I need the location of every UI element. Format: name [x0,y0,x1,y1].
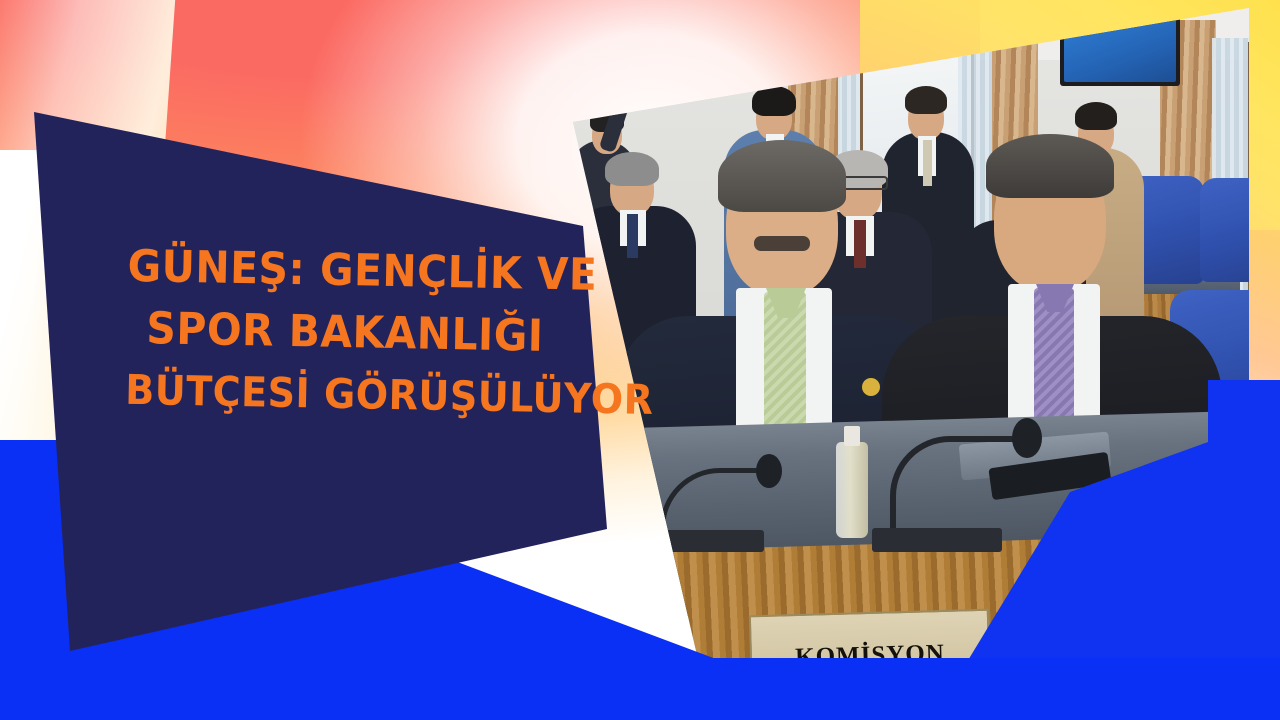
microphone-head-left [756,454,782,488]
microphone-stem-right [890,436,1036,538]
bottle-cap [844,426,860,446]
accent-bar-blue-bottom [0,658,1280,720]
microphone-base-right [872,528,1002,552]
lapel-pin-icon [862,378,880,396]
banner-canvas: KOMİSYON GÜNEŞ: GENÇLİK VE SPOR BAKANLIĞ… [0,0,1280,720]
water-bottle [836,442,868,538]
microphone-head-right [1012,418,1042,458]
